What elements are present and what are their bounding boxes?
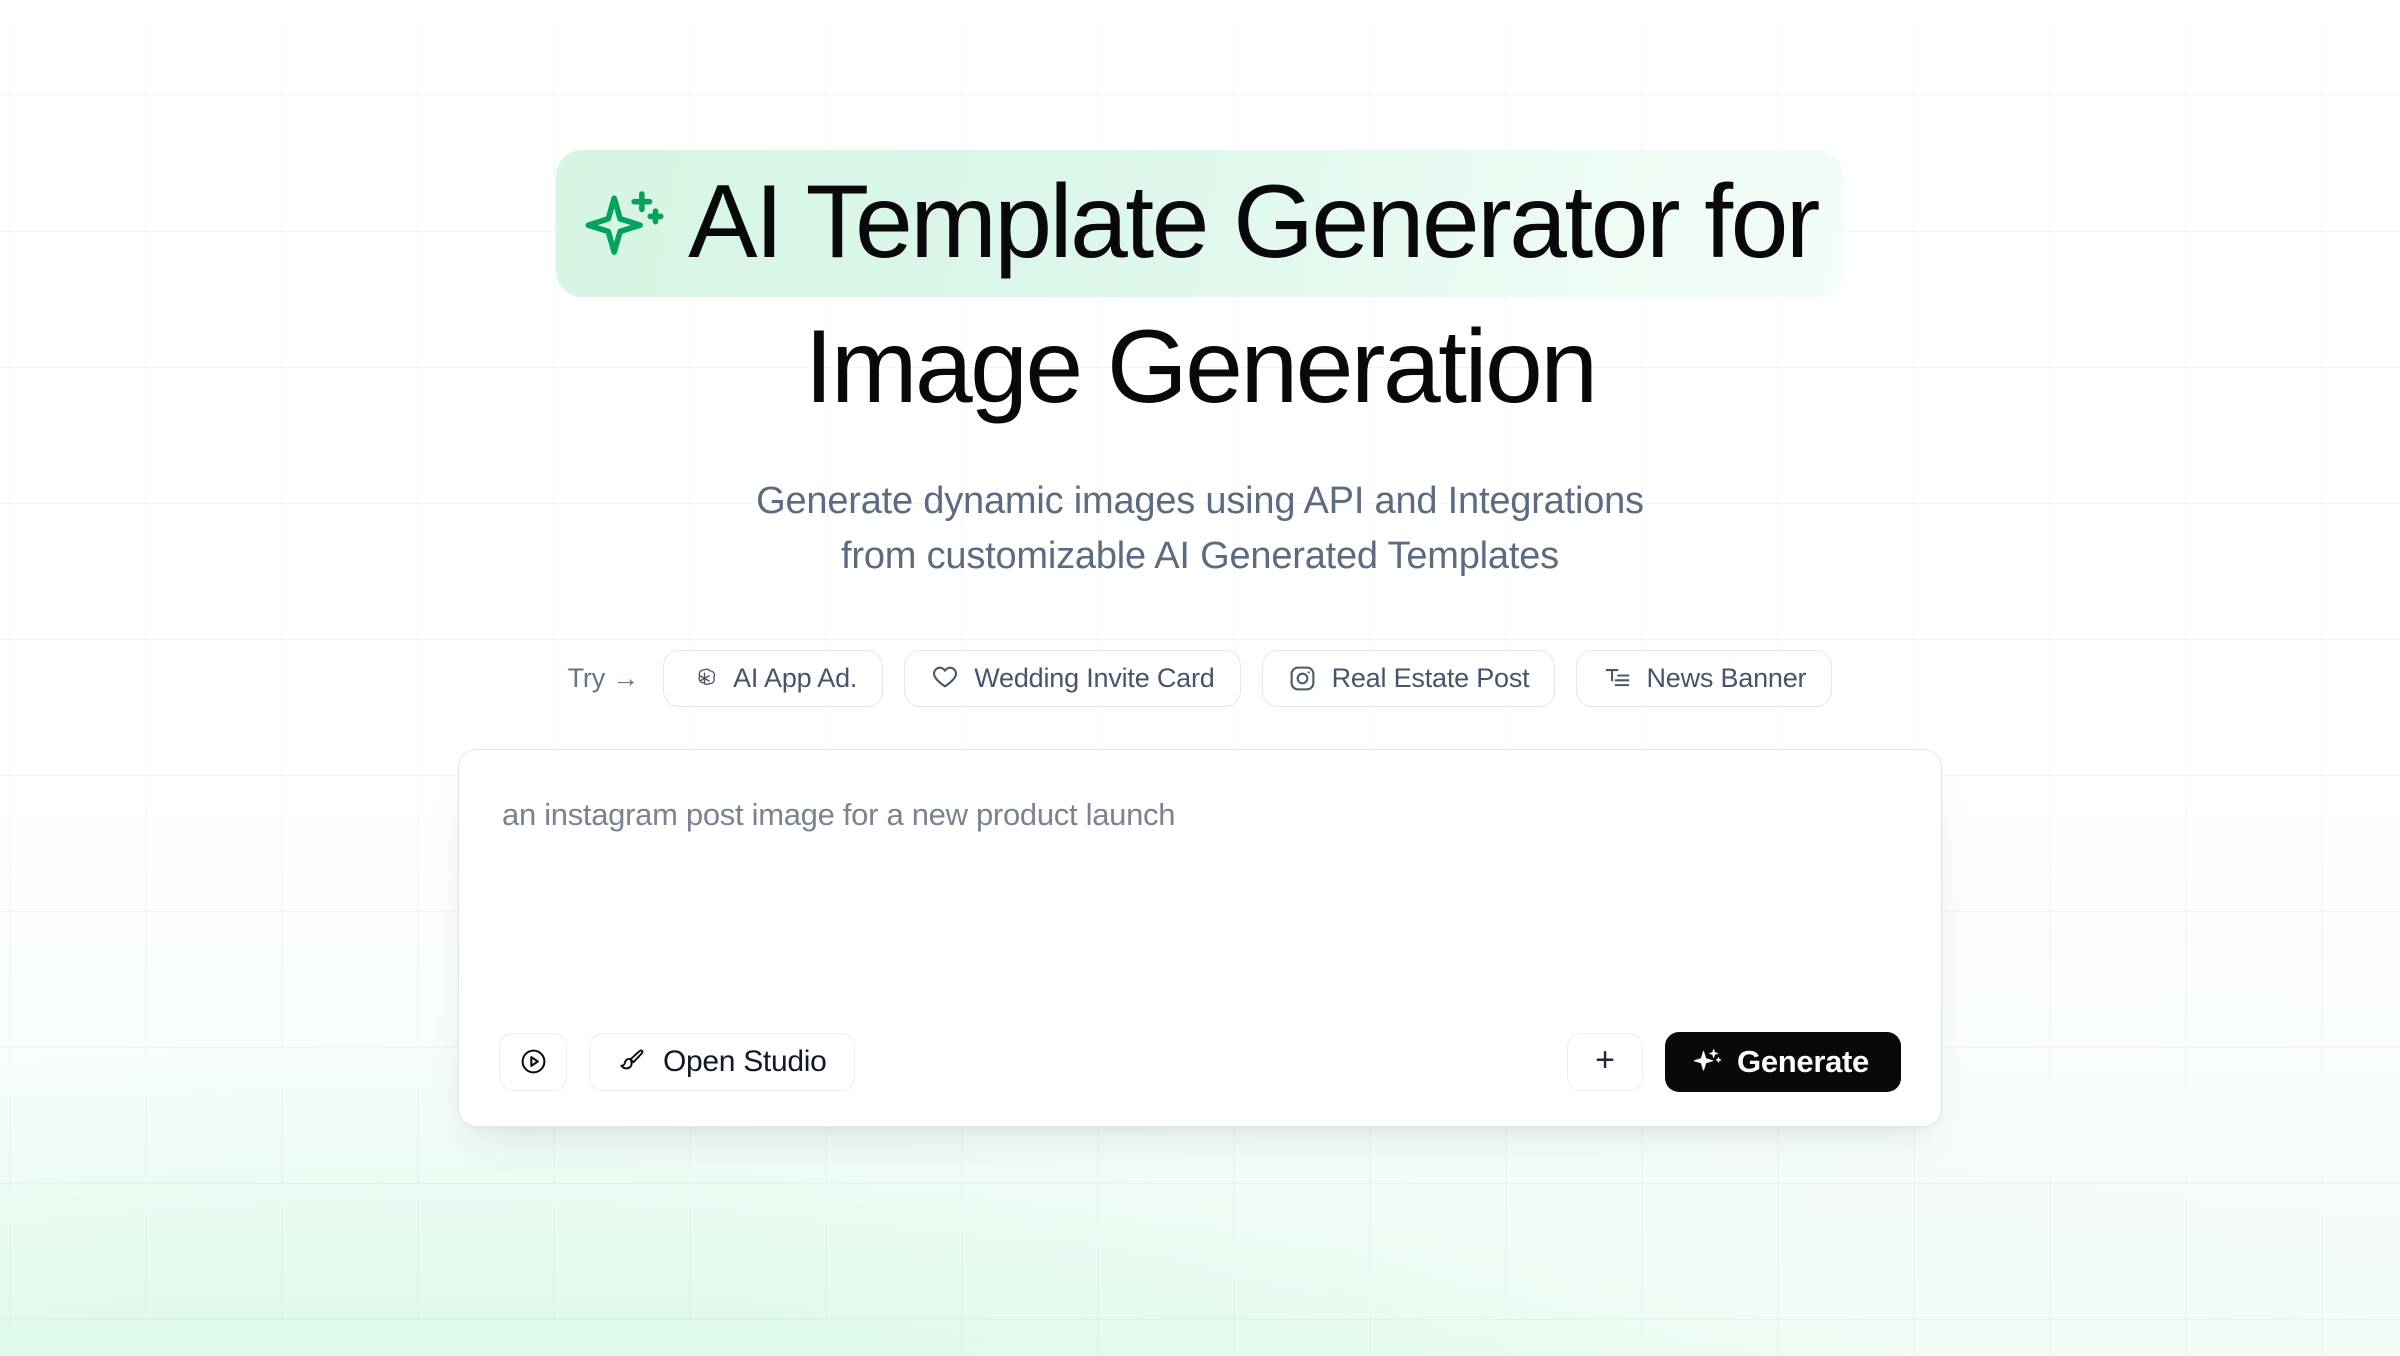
page-title: AI Template Generator for Image Generati…: [400, 150, 2000, 430]
instagram-icon: [1288, 663, 1318, 693]
sparkle-icon: [582, 187, 666, 271]
toolbar-right-group: + Generate: [1567, 1032, 1901, 1092]
page-subtitle: Generate dynamic images using API and In…: [0, 474, 2400, 584]
play-button[interactable]: [499, 1033, 567, 1091]
subtitle-line-1: Generate dynamic images using API and In…: [0, 474, 2400, 529]
page-root: AI Template Generator for Image Generati…: [0, 0, 2400, 1356]
chip-wedding-invite-card[interactable]: Wedding Invite Card: [904, 650, 1240, 707]
prompt-card: an instagram post image for a new produc…: [458, 749, 1942, 1127]
toolbar-left-group: Open Studio: [499, 1033, 855, 1091]
prompt-input[interactable]: an instagram post image for a new produc…: [499, 794, 1901, 836]
add-button[interactable]: +: [1567, 1033, 1643, 1091]
heart-icon: [930, 663, 960, 693]
title-text-line-2: Image Generation: [400, 305, 2000, 430]
play-circle-icon: [519, 1047, 548, 1076]
chip-label: Wedding Invite Card: [974, 663, 1214, 694]
paintbrush-icon: [617, 1047, 646, 1076]
generate-label: Generate: [1737, 1044, 1869, 1080]
text-format-icon: [1602, 663, 1632, 693]
generate-button[interactable]: Generate: [1665, 1032, 1901, 1092]
try-label: Try →: [568, 663, 639, 694]
open-studio-label: Open Studio: [663, 1045, 827, 1079]
open-studio-button[interactable]: Open Studio: [589, 1033, 855, 1091]
chip-ai-app-ad[interactable]: AI App Ad.: [663, 650, 883, 707]
sparkle-icon: [1692, 1047, 1722, 1077]
prompt-toolbar: Open Studio + Generate: [499, 1032, 1901, 1092]
suggestion-chips: Try → AI App Ad. Wedding Invite Card: [568, 650, 1833, 707]
chip-news-banner[interactable]: News Banner: [1576, 650, 1832, 707]
hero-section: AI Template Generator for Image Generati…: [0, 150, 2400, 584]
chip-label: News Banner: [1646, 663, 1806, 694]
openai-logo-icon: [689, 663, 719, 693]
subtitle-line-2: from customizable AI Generated Templates: [0, 529, 2400, 584]
chip-label: Real Estate Post: [1332, 663, 1530, 694]
title-text-line-1: AI Template Generator for: [688, 164, 1818, 280]
chip-real-estate-post[interactable]: Real Estate Post: [1262, 650, 1556, 707]
chip-label: AI App Ad.: [733, 663, 857, 694]
title-highlight-line: AI Template Generator for: [556, 150, 1844, 297]
